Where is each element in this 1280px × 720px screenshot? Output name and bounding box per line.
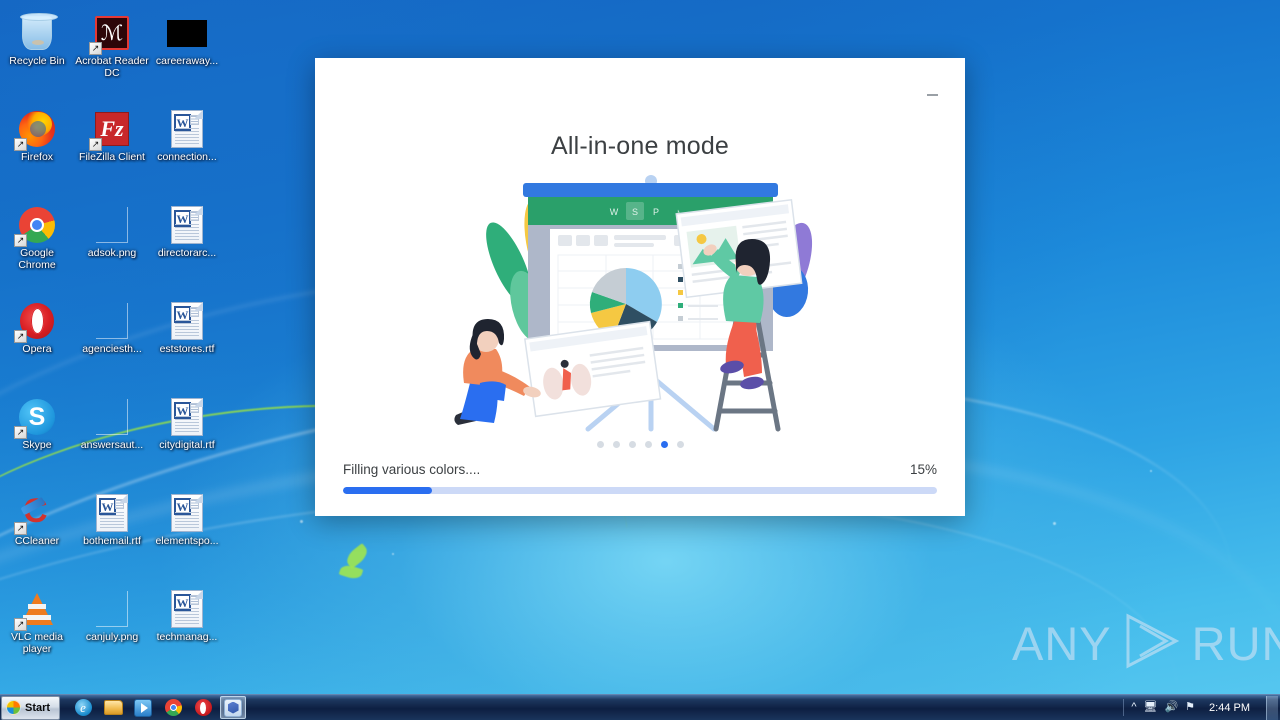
clock[interactable]: 2:44 PM — [1202, 702, 1257, 714]
network-icon[interactable]: 🖥 — [1143, 702, 1157, 713]
board-header-bar — [523, 183, 778, 197]
illustration-container: W S P ♪ — [315, 171, 965, 441]
desktop-icon-label: FileZilla Client — [79, 152, 145, 164]
carousel-dot-2[interactable] — [613, 441, 620, 448]
minimize-icon — [927, 94, 938, 96]
desktop-icon-agenciesth[interactable]: agenciesth... — [75, 300, 149, 356]
shortcut-arrow-icon: ↗ — [14, 330, 27, 343]
desktop-background[interactable]: ANY RUN Recycle Binℳ↗Acrobat Reader DCca… — [0, 0, 1280, 720]
skype-icon: S↗ — [16, 396, 58, 438]
watermark-text-any: ANY — [1012, 616, 1112, 671]
watermark-text-run: RUN — [1192, 616, 1280, 671]
word-icon: W — [166, 108, 208, 150]
taskbar[interactable]: Start ^ 🖥 🔊 ⚑ 2:44 PM — [0, 694, 1280, 720]
ccleaner-icon: ↗ — [16, 492, 58, 534]
desktop-icon-label: careeraway... — [156, 56, 218, 68]
shortcut-arrow-icon: ↗ — [14, 618, 27, 631]
word-icon: W — [166, 492, 208, 534]
png-icon — [91, 588, 133, 630]
desktop-icon-label: connection... — [157, 152, 217, 164]
desktop-icon-elementspo[interactable]: Welementspo... — [150, 492, 224, 548]
taskbar-button-installer-window[interactable] — [220, 696, 246, 719]
page-title: All-in-one mode — [315, 132, 965, 161]
word-icon: W — [166, 588, 208, 630]
desktop-icon-label: elementspo... — [155, 536, 218, 548]
system-tray: ^ 🖥 🔊 ⚑ 2:44 PM — [1123, 695, 1280, 720]
shortcut-arrow-icon: ↗ — [14, 234, 27, 247]
progress-percent-label: 15% — [910, 462, 937, 477]
desktop-icon-eststores-rtf[interactable]: Weststores.rtf — [150, 300, 224, 356]
floating-slide-card-left — [525, 322, 661, 417]
desktop-icon-label: agenciesth... — [82, 344, 142, 356]
desktop-icon-vlc-media-player[interactable]: ↗VLC media player — [0, 588, 74, 655]
png-icon — [91, 396, 133, 438]
desktop-icon-bothemail-rtf[interactable]: Wbothemail.rtf — [75, 492, 149, 548]
carousel-dot-4[interactable] — [645, 441, 652, 448]
taskbar-button-opera[interactable] — [190, 696, 216, 719]
status-row: Filling various colors.... 15% — [315, 462, 965, 477]
start-button[interactable]: Start — [1, 696, 60, 720]
word-icon: W — [166, 396, 208, 438]
desktop-icon-label: adsok.png — [88, 248, 136, 260]
minimize-button[interactable] — [921, 84, 943, 106]
png-icon — [91, 300, 133, 342]
desktop-icon-google-chrome[interactable]: ↗Google Chrome — [0, 204, 74, 271]
taskbar-button-windows-explorer[interactable] — [100, 696, 126, 719]
desktop-icon-label: Skype — [22, 440, 51, 452]
play-triangle-icon — [1118, 612, 1186, 675]
desktop-icon-label: eststores.rtf — [160, 344, 215, 356]
volume-icon[interactable]: 🔊 — [1164, 702, 1178, 713]
carousel-dot-1[interactable] — [597, 441, 604, 448]
desktop-icon-ccleaner[interactable]: ↗CCleaner — [0, 492, 74, 548]
desktop-icon-acrobat-reader-dc[interactable]: ℳ↗Acrobat Reader DC — [75, 12, 149, 79]
word-icon: W — [166, 300, 208, 342]
desktop-icon-label: techmanag... — [157, 632, 218, 644]
writer-w-icon: W — [610, 207, 619, 217]
png-icon — [91, 204, 133, 246]
carousel-dot-5[interactable] — [661, 441, 668, 448]
desktop-icon-label: Acrobat Reader DC — [75, 56, 149, 79]
carousel-dot-6[interactable] — [677, 441, 684, 448]
desktop-icon-skype[interactable]: S↗Skype — [0, 396, 74, 452]
shortcut-arrow-icon: ↗ — [14, 138, 27, 151]
anyrun-watermark: ANY RUN — [1012, 612, 1280, 675]
desktop-icon-label: directorarc... — [158, 248, 216, 260]
wallpaper-sparkle — [392, 553, 394, 555]
shortcut-arrow-icon: ↗ — [14, 426, 27, 439]
taskbar-button-windows-media-player[interactable] — [130, 696, 156, 719]
desktop-icon-label: answersaut... — [81, 440, 143, 452]
vlc-icon: ↗ — [16, 588, 58, 630]
opera-icon: ↗ — [16, 300, 58, 342]
carousel-dots[interactable] — [315, 441, 965, 448]
shortcut-arrow-icon: ↗ — [14, 522, 27, 535]
desktop-icon-label: bothemail.rtf — [83, 536, 141, 548]
wallpaper-sparkle — [1150, 470, 1152, 472]
desktop-icon-answersaut[interactable]: answersaut... — [75, 396, 149, 452]
show-hidden-icons-icon[interactable]: ^ — [1131, 702, 1136, 713]
shortcut-arrow-icon: ↗ — [89, 42, 102, 55]
desktop-icon-label: Opera — [22, 344, 51, 356]
desktop-icon-label: Firefox — [21, 152, 53, 164]
office-suite-illustration: W S P ♪ — [440, 171, 840, 441]
desktop-icon-label: Recycle Bin — [9, 56, 64, 68]
desktop-icon-citydigital-rtf[interactable]: Wcitydigital.rtf — [150, 396, 224, 452]
desktop-icon-recycle-bin[interactable]: Recycle Bin — [0, 12, 74, 68]
desktop-icon-techmanag[interactable]: Wtechmanag... — [150, 588, 224, 644]
black-icon — [166, 12, 208, 54]
desktop-icon-label: citydigital.rtf — [159, 440, 214, 452]
progress-bar-fill — [343, 487, 432, 494]
shortcut-arrow-icon: ↗ — [89, 138, 102, 151]
wallpaper-sparkle — [1053, 522, 1056, 525]
chrome-icon: ↗ — [16, 204, 58, 246]
filezilla-icon: Fz↗ — [91, 108, 133, 150]
tray-divider — [1123, 699, 1124, 716]
acrobat-icon: ℳ↗ — [91, 12, 133, 54]
taskbar-button-google-chrome[interactable] — [160, 696, 186, 719]
firefox-icon: ↗ — [16, 108, 58, 150]
recycle-icon — [16, 12, 58, 54]
desktop-icon-adsok-png[interactable]: adsok.png — [75, 204, 149, 260]
word-icon: W — [166, 204, 208, 246]
show-desktop-button[interactable] — [1266, 696, 1278, 720]
spreadsheet-s-icon: S — [632, 207, 638, 217]
wallpaper-sparkle — [300, 520, 303, 523]
desktop-icon-label: Google Chrome — [0, 248, 74, 271]
desktop-icon-directorarc[interactable]: Wdirectorarc... — [150, 204, 224, 260]
desktop-icon-label: CCleaner — [15, 536, 59, 548]
desktop-icon-opera[interactable]: ↗Opera — [0, 300, 74, 356]
desktop-icon-label: canjuly.png — [86, 632, 138, 644]
desktop-icon-canjuly-png[interactable]: canjuly.png — [75, 588, 149, 644]
installer-window[interactable]: All-in-one mode — [315, 58, 965, 516]
quick-launch-bar — [66, 696, 246, 719]
taskbar-button-internet-explorer[interactable] — [70, 696, 96, 719]
desktop-icon-connection[interactable]: Wconnection... — [150, 108, 224, 164]
action-center-flag-icon[interactable]: ⚑ — [1185, 702, 1195, 713]
windows-logo-icon — [6, 700, 21, 715]
desktop-icon-firefox[interactable]: ↗Firefox — [0, 108, 74, 164]
carousel-dot-3[interactable] — [629, 441, 636, 448]
presentation-p-icon: P — [653, 207, 659, 217]
status-text: Filling various colors.... — [343, 462, 480, 477]
progress-bar-track — [343, 487, 937, 494]
desktop-icon-careeraway[interactable]: careeraway... — [150, 12, 224, 68]
start-button-label: Start — [25, 702, 50, 714]
word-icon: W — [91, 492, 133, 534]
desktop-icon-filezilla-client[interactable]: Fz↗FileZilla Client — [75, 108, 149, 164]
desktop-icon-label: VLC media player — [0, 632, 74, 655]
